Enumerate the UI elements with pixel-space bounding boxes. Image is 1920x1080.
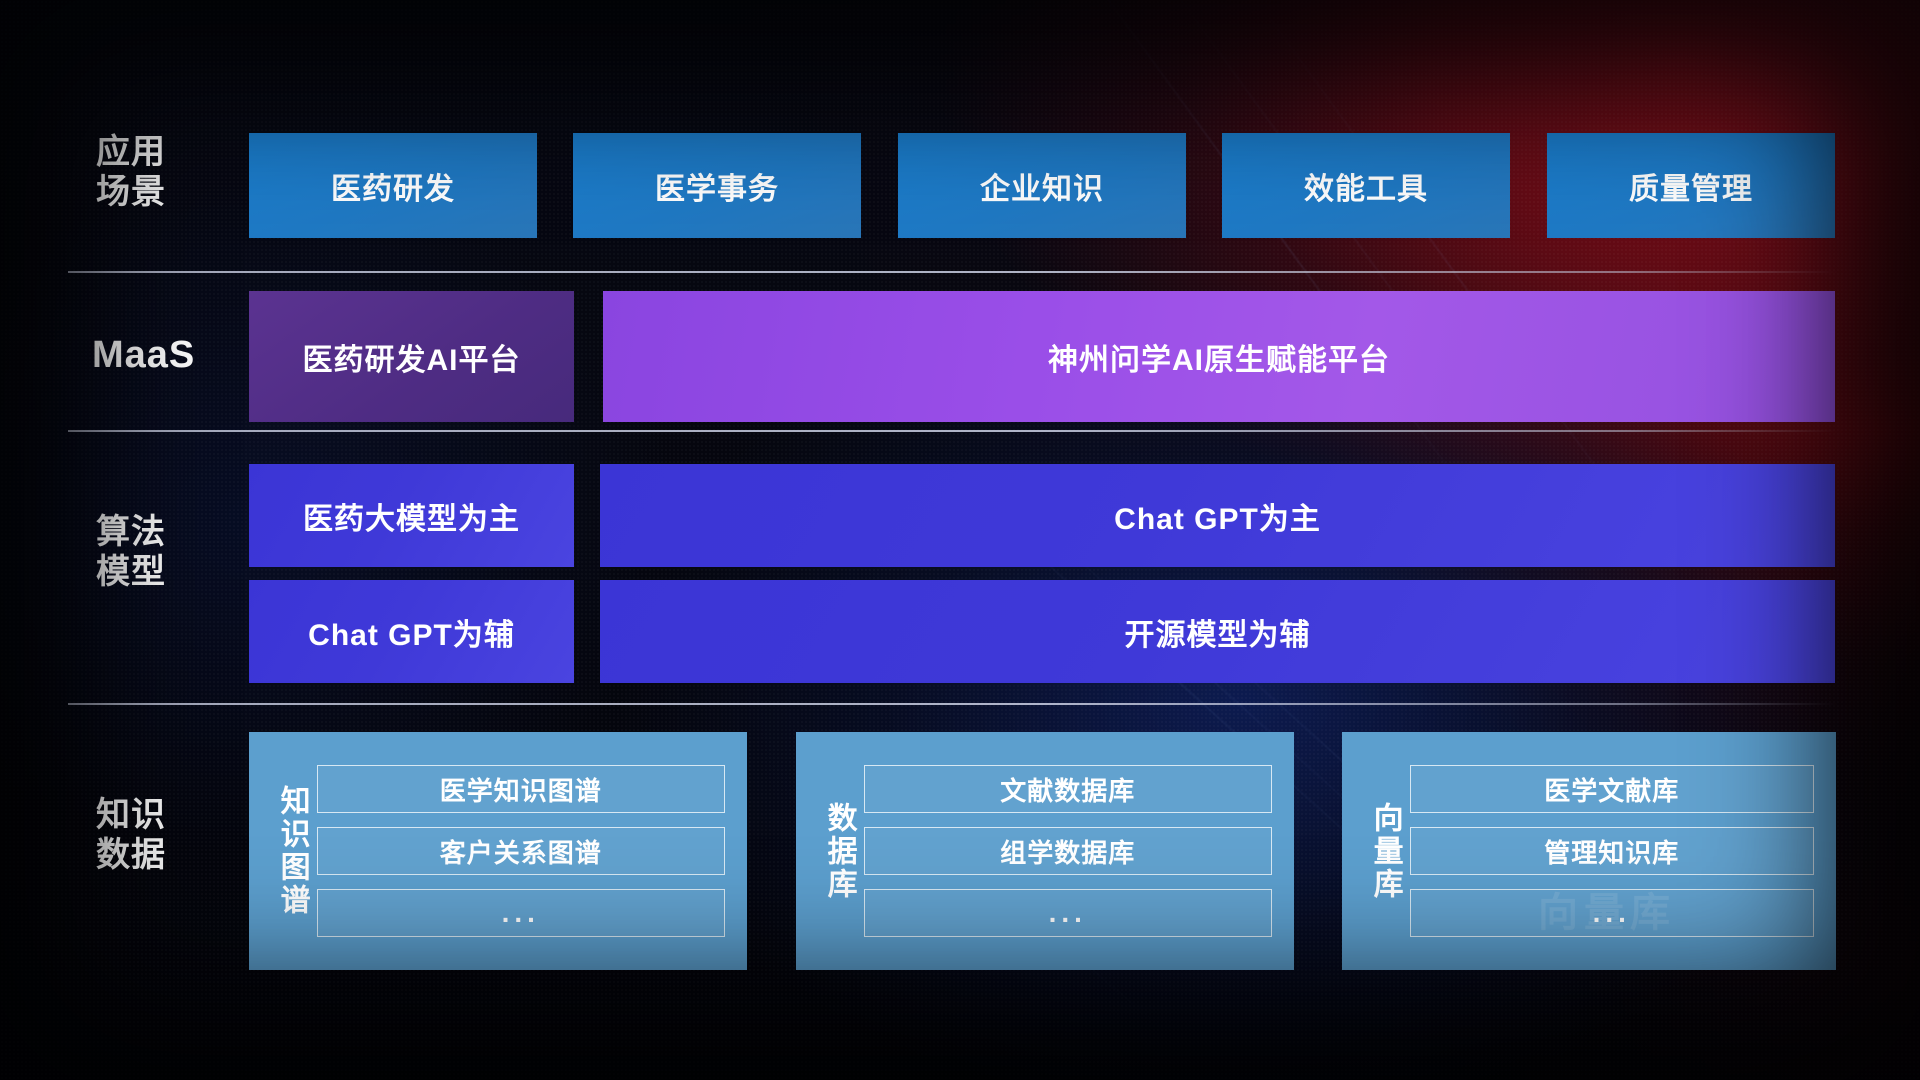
- row-label-line1: 应用: [96, 132, 236, 172]
- knowledge-item-literature-database[interactable]: 文献数据库: [864, 765, 1272, 813]
- divider-2: [68, 430, 1838, 432]
- knowledge-panel-title: 数据库: [822, 802, 856, 901]
- maas-box-medicine-rd-ai-platform[interactable]: 医药研发AI平台: [249, 291, 574, 422]
- knowledge-item-more[interactable]: ...: [1410, 889, 1814, 937]
- knowledge-panel-vector-store[interactable]: 向量库 向量库 医学文献库 管理知识库 ...: [1342, 732, 1836, 970]
- knowledge-panel-item-list: 医学知识图谱 客户关系图谱 ...: [317, 765, 725, 937]
- knowledge-item-customer-relation-graph[interactable]: 客户关系图谱: [317, 827, 725, 875]
- knowledge-panel-item-list: 文献数据库 组学数据库 ...: [864, 765, 1272, 937]
- divider-1: [68, 271, 1838, 273]
- algo-box-open-source-secondary[interactable]: 开源模型为辅: [600, 580, 1835, 683]
- knowledge-panel-item-list: 医学文献库 管理知识库 ...: [1410, 765, 1814, 937]
- divider-3: [68, 703, 1838, 705]
- knowledge-item-omics-database[interactable]: 组学数据库: [864, 827, 1272, 875]
- algo-box-chatgpt-secondary[interactable]: Chat GPT为辅: [249, 580, 574, 683]
- row-label-application-scenarios: 应用 场景: [96, 132, 236, 212]
- diagram-canvas: 应用 场景 医药研发 医学事务 企业知识 效能工具 质量管理 MaaS 医药研发…: [0, 0, 1920, 1080]
- app-box-enterprise-knowledge[interactable]: 企业知识: [898, 133, 1186, 238]
- app-box-quality-management[interactable]: 质量管理: [1547, 133, 1835, 238]
- knowledge-item-medical-knowledge-graph[interactable]: 医学知识图谱: [317, 765, 725, 813]
- knowledge-item-more[interactable]: ...: [864, 889, 1272, 937]
- maas-box-shenzhou-wenxue-platform[interactable]: 神州问学AI原生赋能平台: [603, 291, 1835, 422]
- row-label-line2: 数据: [96, 835, 236, 875]
- row-label-line1: 知识: [96, 795, 236, 835]
- knowledge-item-management-knowledge-store[interactable]: 管理知识库: [1410, 827, 1814, 875]
- knowledge-panel-knowledge-graph[interactable]: 知识图谱 医学知识图谱 客户关系图谱 ...: [249, 732, 747, 970]
- app-box-efficiency-tools[interactable]: 效能工具: [1222, 133, 1510, 238]
- app-box-medical-affairs[interactable]: 医学事务: [573, 133, 861, 238]
- row-label-line2: 场景: [96, 172, 236, 212]
- row-label-maas: MaaS: [92, 333, 252, 378]
- knowledge-panel-title: 向量库: [1368, 802, 1402, 901]
- row-label-line1: MaaS: [92, 333, 252, 378]
- algo-box-chatgpt-primary[interactable]: Chat GPT为主: [600, 464, 1835, 567]
- row-label-algorithm-models: 算法 模型: [96, 512, 236, 592]
- knowledge-panel-title: 知识图谱: [275, 785, 309, 917]
- row-label-line2: 模型: [96, 552, 236, 592]
- knowledge-item-more[interactable]: ...: [317, 889, 725, 937]
- knowledge-item-medical-literature-store[interactable]: 医学文献库: [1410, 765, 1814, 813]
- row-label-knowledge-data: 知识 数据: [96, 795, 236, 875]
- app-box-medicine-rd[interactable]: 医药研发: [249, 133, 537, 238]
- knowledge-panel-database[interactable]: 数据库 文献数据库 组学数据库 ...: [796, 732, 1294, 970]
- row-label-line1: 算法: [96, 512, 236, 552]
- algo-box-medicine-large-model-primary[interactable]: 医药大模型为主: [249, 464, 574, 567]
